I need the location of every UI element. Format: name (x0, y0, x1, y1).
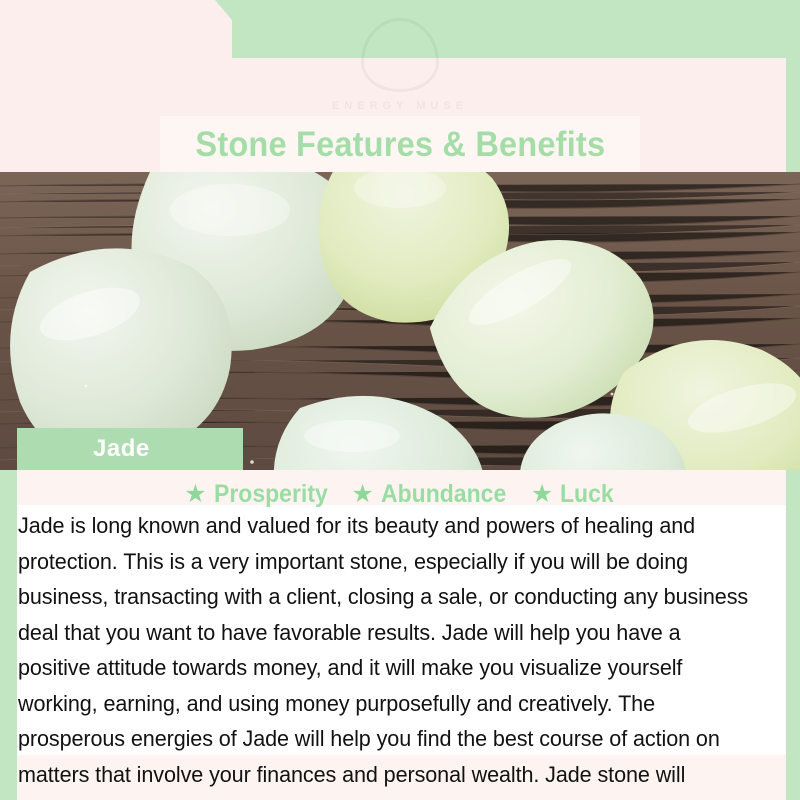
stone-photo (0, 172, 800, 470)
title-banner: Stone Features & Benefits (160, 116, 640, 172)
benefit-item: ★ Luck (531, 482, 619, 507)
benefit-label: Abundance (381, 482, 506, 507)
stone-info-card: ENERGY MUSE Stone Features & Benefits (0, 0, 800, 800)
benefit-label: Luck (560, 482, 614, 507)
star-icon: ★ (531, 482, 553, 507)
stone-name-bar: Jade (17, 428, 243, 470)
decoration-top-green-strip (232, 0, 800, 20)
benefits-row: ★ Prosperity ★ Abundance ★ Luck (17, 477, 786, 511)
brand-watermark: ENERGY MUSE (0, 18, 800, 112)
brand-logo-icon (361, 18, 439, 92)
benefit-item: ★ Abundance (351, 482, 517, 507)
page-title: Stone Features & Benefits (195, 127, 605, 162)
stone-photo-illustration (0, 172, 800, 470)
star-icon: ★ (351, 482, 373, 507)
star-icon: ★ (184, 482, 206, 507)
brand-watermark-text: ENERGY MUSE (0, 100, 800, 112)
stone-description: Jade is long known and valued for its be… (18, 508, 750, 800)
stone-name-label: Jade (93, 435, 150, 463)
benefit-item: ★ Prosperity (184, 482, 337, 507)
benefit-label: Prosperity (214, 482, 328, 507)
